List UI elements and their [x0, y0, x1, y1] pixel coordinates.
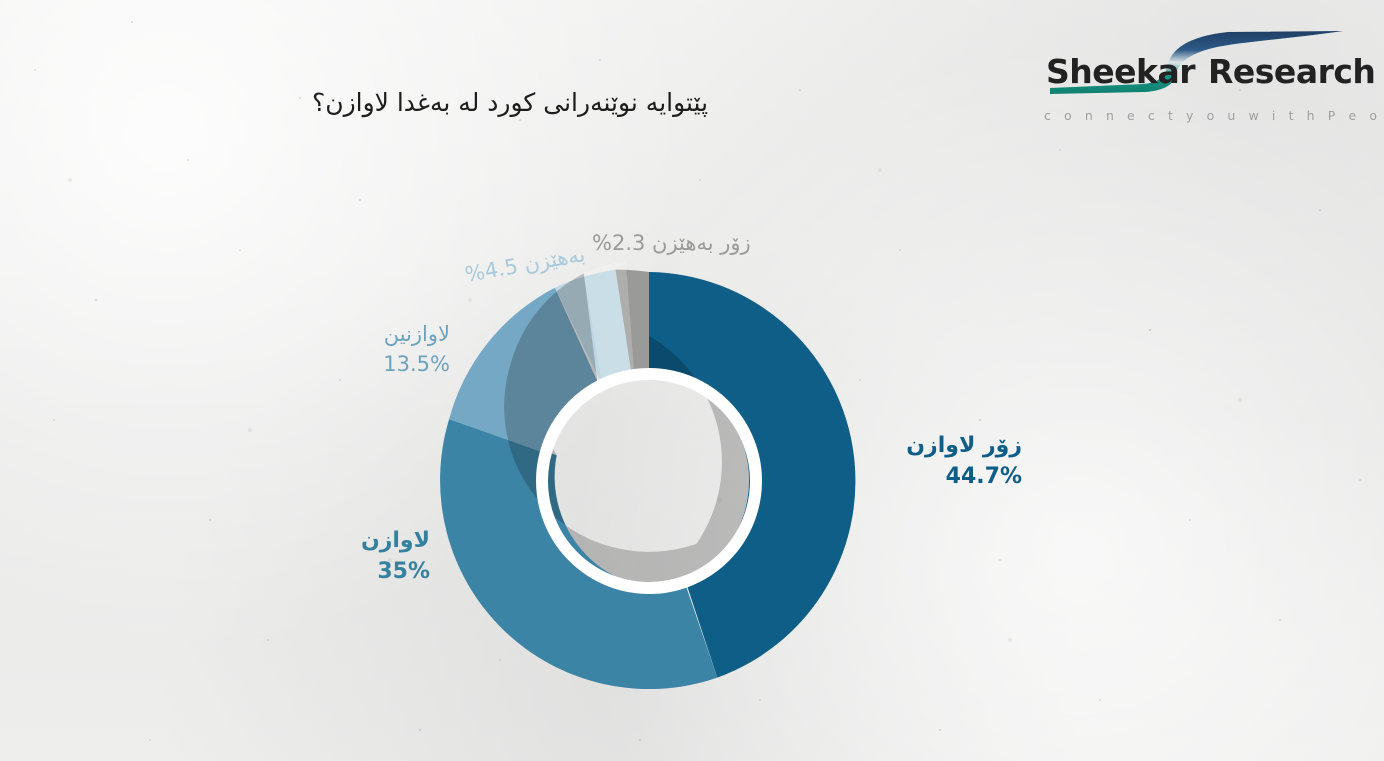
slice-label-lawaznin: لاوازنین 13.5%	[300, 320, 450, 380]
logo-word-research: Research	[1208, 52, 1375, 91]
slide-canvas: پێتوایە نوێنەرانی کورد لە بەغدا لاوازن؟ …	[0, 0, 1384, 761]
slice-label-zor-lawazn: زۆر لاوازن 44.7%	[862, 430, 1022, 492]
slice-label-lawaznin-name: لاوازنین	[300, 320, 450, 350]
logo-word-sheekar: Sheekar	[1046, 52, 1195, 91]
page-title: پێتوایە نوێنەرانی کورد لە بەغدا لاوازن؟	[0, 88, 1020, 117]
slice-label-zor-behezin-text: زۆر بەهێزن 2.3%	[592, 231, 751, 255]
logo-tagline: c o n n e c t y o u w i t h P e o p l e	[1044, 108, 1358, 123]
slice-label-zor-lawazn-name: زۆر لاوازن	[862, 430, 1022, 461]
logo-wordmark: Sheekar Research	[1038, 52, 1358, 98]
donut-chart-svg	[430, 262, 870, 702]
slice-label-zor-behezin: زۆر بەهێزن 2.3%	[592, 229, 792, 259]
slice-label-lawazn: لاوازن 35%	[300, 525, 430, 587]
slice-label-zor-lawazn-pct: 44.7%	[862, 461, 1022, 492]
slice-label-lawazn-pct: 35%	[300, 556, 430, 587]
sheekar-research-logo: Sheekar Research c o n n e c t y o u w i…	[1038, 26, 1358, 134]
slice-label-lawaznin-pct: 13.5%	[300, 350, 450, 380]
slice-label-lawazn-name: لاوازن	[300, 525, 430, 556]
donut-chart	[430, 262, 870, 702]
